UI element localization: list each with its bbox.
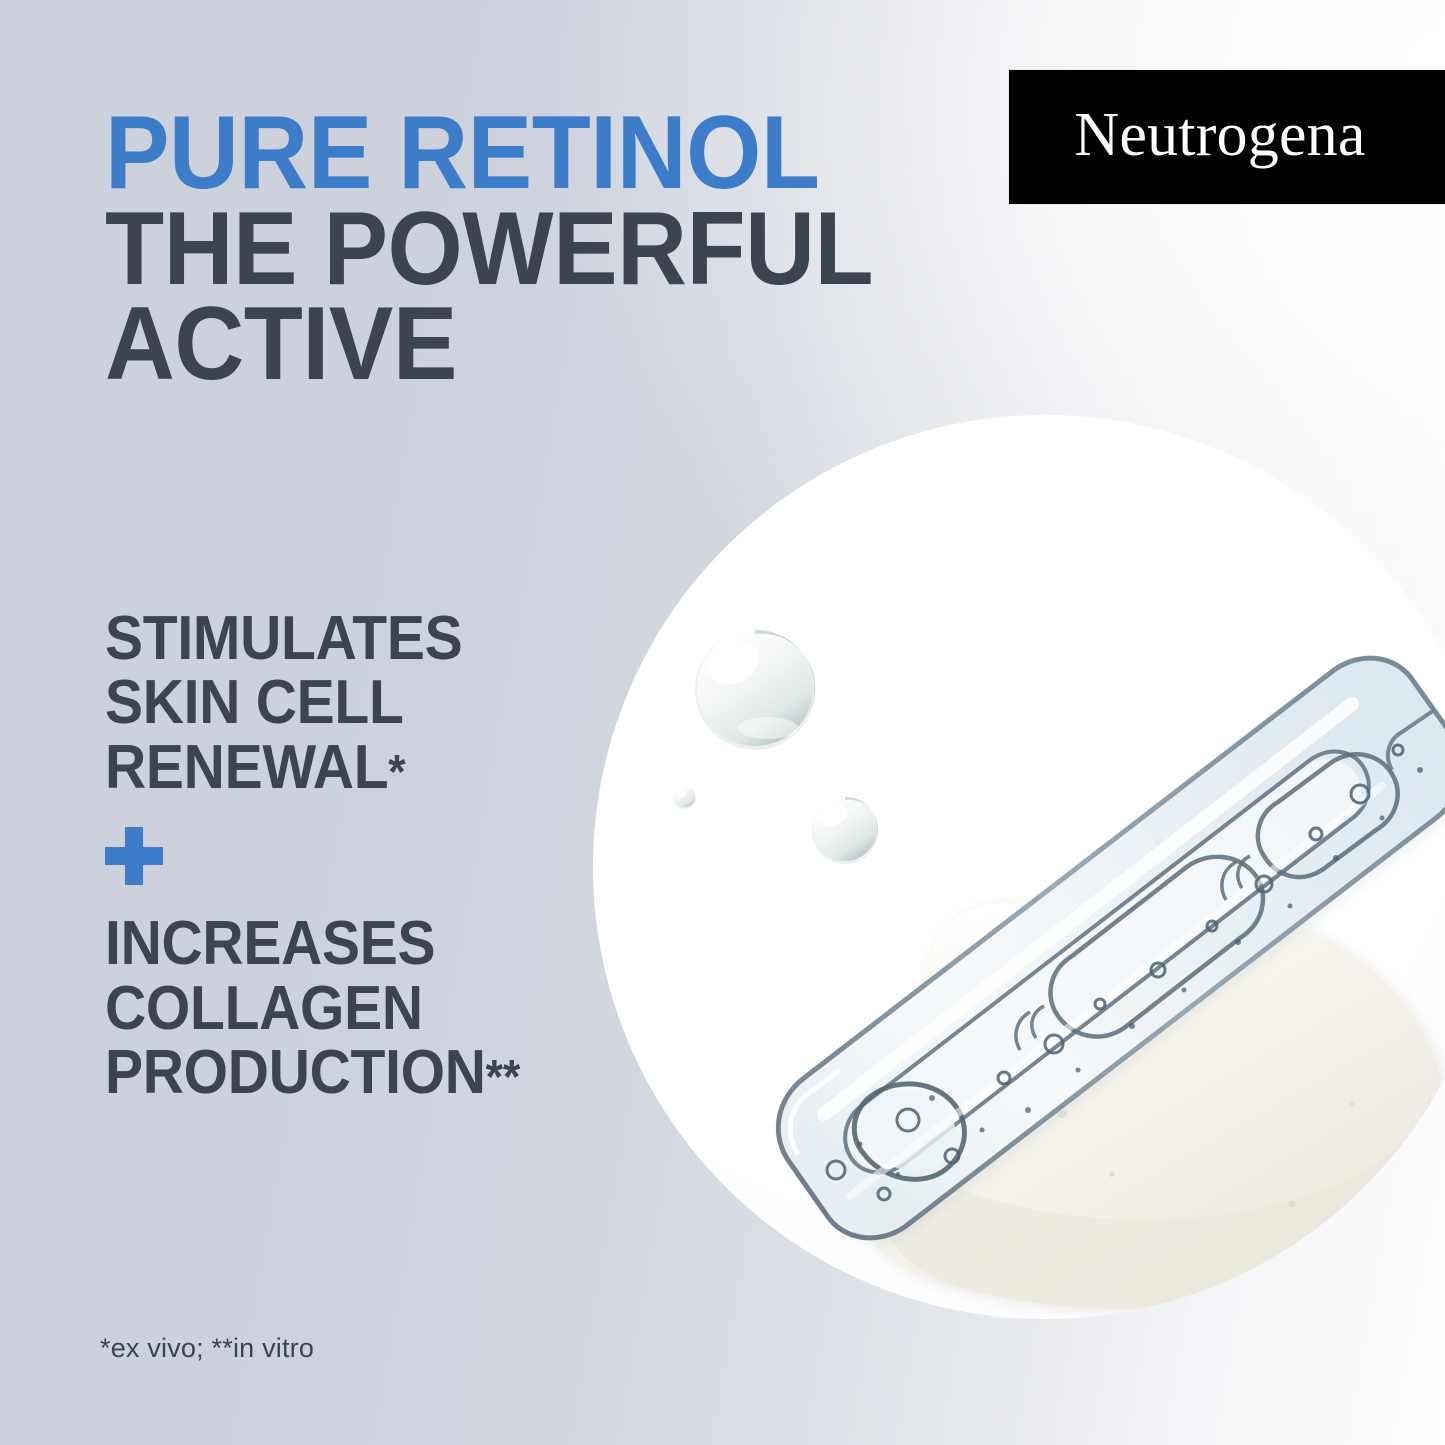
headline-line-3: ACTIVE	[105, 297, 877, 393]
plus-icon	[105, 827, 163, 885]
claim-stimulates-renewal: STIMULATES SKIN CELL RENEWAL*	[105, 607, 665, 800]
neutrogena-logo: Neutrogena®	[1009, 70, 1445, 204]
headline-line-2: THE POWERFUL	[105, 202, 877, 298]
footnote-text: *ex vivo; **in vitro	[100, 1333, 314, 1364]
cream-swatch	[853, 903, 1445, 1312]
claim-2-line-2: COLLAGEN	[105, 977, 620, 1041]
claim-1-line-2: SKIN CELL	[105, 671, 620, 735]
poster-canvas: Neutrogena® PURE RETINOL THE POWERFUL AC…	[0, 0, 1445, 1445]
claim-2-line-3-text: PRODUCTION	[105, 1038, 486, 1107]
claim-2-footnote-marker: **	[486, 1050, 521, 1104]
claim-2-line-1: INCREASES	[105, 912, 620, 976]
claim-increases-collagen: INCREASES COLLAGEN PRODUCTION**	[105, 912, 665, 1105]
claim-1-line-3-text: RENEWAL	[105, 733, 388, 802]
claim-1-line-3: RENEWAL*	[105, 736, 620, 800]
plus-connector-row	[105, 800, 665, 912]
circle-plate	[593, 415, 1445, 1319]
registered-trademark-icon: ®	[1367, 114, 1381, 136]
claim-1-line-1: STIMULATES	[105, 607, 620, 671]
product-image	[592, 414, 1445, 1320]
glass-dropper-pipette	[778, 658, 1445, 1242]
claim-1-footnote-marker: *	[388, 745, 405, 799]
droplet-group	[674, 630, 878, 864]
page-title: PURE RETINOL THE POWERFUL ACTIVE	[105, 106, 935, 393]
claim-2-line-3: PRODUCTION**	[105, 1041, 620, 1105]
benefit-claims: STIMULATES SKIN CELL RENEWAL* INCREASES …	[105, 607, 665, 1106]
headline-line-1: PURE RETINOL	[105, 106, 877, 202]
droplet-large	[695, 630, 815, 750]
droplet-medium	[812, 797, 878, 864]
droplet-small	[674, 787, 696, 809]
logo-wordmark: Neutrogena	[1074, 104, 1365, 166]
